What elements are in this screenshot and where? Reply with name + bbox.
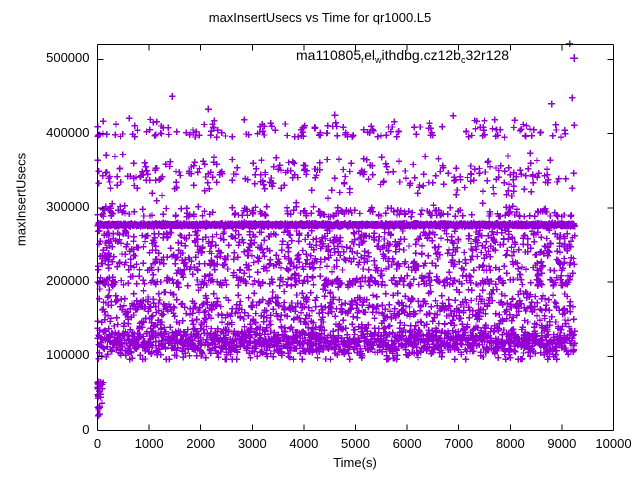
x-tick-label: 10000 <box>574 436 640 451</box>
chart-root: maxInsertUsecs vs Time for qr1000.L5 ma1… <box>0 0 640 480</box>
legend-marker <box>570 54 578 62</box>
plot-canvas <box>0 0 640 480</box>
y-tick-label: 0 <box>20 422 90 437</box>
y-tick-label: 500000 <box>20 50 90 65</box>
y-tick-label: 300000 <box>20 199 90 214</box>
data-points-layer <box>94 40 578 418</box>
y-tick-label: 400000 <box>20 125 90 140</box>
y-tick-label: 100000 <box>20 347 90 362</box>
y-tick-label: 200000 <box>20 273 90 288</box>
